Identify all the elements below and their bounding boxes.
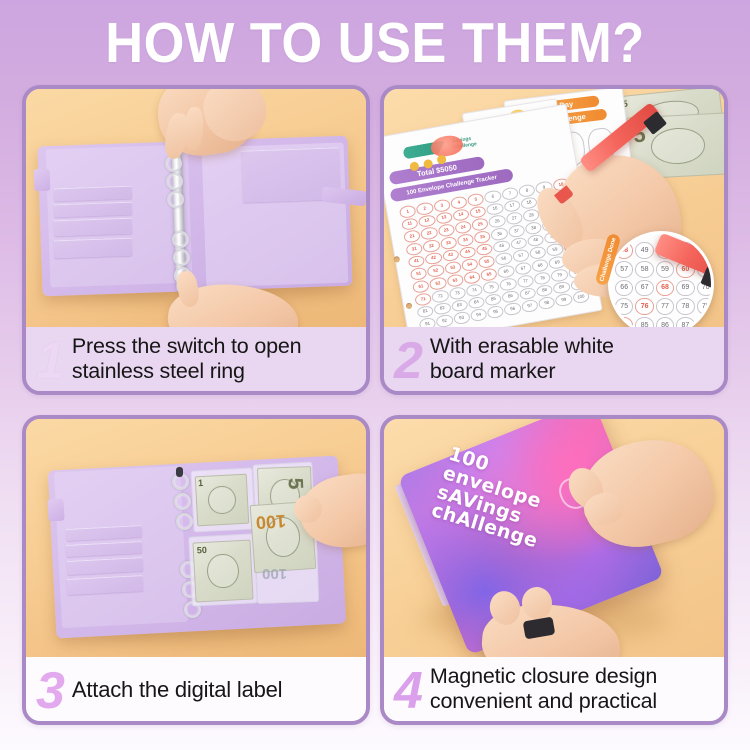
zoom-tracker-number: 66 [615, 280, 633, 297]
tracker-number[interactable]: 34 [456, 233, 474, 247]
caption-line-1: Magnetic closure design [430, 664, 657, 689]
tracker-number[interactable]: 97 [521, 299, 539, 313]
zoom-tracker-number: 58 [635, 261, 653, 278]
tracker-number[interactable]: 33 [439, 236, 457, 250]
tracker-number[interactable]: 6 [484, 189, 502, 203]
tracker-number[interactable]: 35 [473, 230, 491, 244]
tracker-number[interactable]: 56 [495, 252, 513, 266]
tracker-number[interactable]: 48 [527, 233, 545, 247]
tracker-number[interactable]: 81 [416, 304, 434, 318]
step-card-1[interactable]: 1 Press the switch to open stainless ste… [22, 85, 370, 395]
tracker-number[interactable]: 67 [514, 261, 532, 275]
elastic-tab-left [47, 499, 64, 522]
tracker-number[interactable]: 22 [420, 226, 438, 240]
tracker-number[interactable]: 88 [536, 283, 554, 297]
tracker-number[interactable]: 8 [518, 183, 536, 197]
tracker-number[interactable]: 77 [516, 274, 534, 288]
tracker-number[interactable]: 94 [470, 308, 488, 322]
tracker-number[interactable]: 17 [503, 199, 521, 213]
bill-denomination: 5 [282, 477, 306, 490]
zoom-tracker-number: 69 [676, 280, 694, 297]
tracker-number[interactable]: 54 [461, 258, 479, 272]
card-pocket [54, 202, 132, 218]
tracker-number[interactable]: 44 [459, 245, 477, 259]
tracker-number[interactable]: 84 [467, 295, 485, 309]
tracker-number[interactable]: 37 [508, 224, 526, 238]
tracker-number[interactable]: 62 [429, 276, 447, 290]
tracker-number[interactable]: 24 [454, 220, 472, 234]
zoom-tracker-number: 77 [656, 298, 674, 315]
tracker-number[interactable]: 73 [448, 286, 466, 300]
tracker-number[interactable]: 43 [442, 248, 460, 262]
tracker-number[interactable]: 57 [512, 249, 530, 263]
tracker-number[interactable]: 64 [463, 270, 481, 284]
tracker-number[interactable]: 47 [510, 236, 528, 250]
tracker-number[interactable]: 75 [482, 280, 500, 294]
step-4-caption: 4 Magnetic closure design convenient and… [384, 657, 724, 721]
step-card-3[interactable]: 1 5 50 100 100 3 [22, 415, 370, 725]
tracker-number[interactable]: 13 [435, 211, 453, 225]
caption-line-1: Attach the digital label [72, 677, 282, 702]
tracker-number[interactable]: 7 [501, 186, 519, 200]
caption-line-2: stainless steel ring [72, 359, 301, 384]
tracker-number[interactable]: 46 [493, 239, 511, 253]
tracker-number[interactable]: 45 [476, 242, 494, 256]
tracker-number[interactable]: 58 [529, 246, 547, 260]
tracker-number[interactable]: 51 [410, 267, 428, 281]
tracker-number[interactable]: 21 [403, 229, 421, 243]
zoom-tracker-number: 78 [676, 298, 694, 315]
step-2-caption: 2 With erasable white board marker [384, 327, 724, 391]
tracker-number[interactable]: 55 [478, 255, 496, 269]
tracker-number[interactable]: 11 [401, 217, 419, 231]
binder-ring [166, 173, 183, 190]
tracker-number[interactable]: 74 [465, 283, 483, 297]
tracker-number[interactable]: 5 [467, 192, 485, 206]
binder-ring [173, 249, 190, 266]
tracker-number[interactable]: 87 [519, 286, 537, 300]
tracker-number[interactable]: 12 [418, 214, 436, 228]
zoom-tracker-number: 76 [635, 298, 653, 315]
tracker-number[interactable]: 14 [452, 208, 470, 222]
tracker-number[interactable]: 32 [422, 239, 440, 253]
tracker-number[interactable]: 41 [408, 254, 426, 268]
zoom-tracker-number: 68 [656, 280, 674, 297]
tracker-number[interactable]: 2 [416, 201, 434, 215]
tracker-number[interactable]: 31 [405, 242, 423, 256]
ring-switch [176, 467, 183, 477]
tracker-number[interactable]: 23 [437, 223, 455, 237]
elastic-tab-left [34, 169, 51, 192]
tracker-number[interactable]: 76 [499, 277, 517, 291]
tracker-number[interactable]: 86 [502, 289, 520, 303]
step-number-1: 1 [36, 335, 65, 387]
bill-denomination-faded: 100 [262, 565, 287, 582]
binder-ring [167, 191, 184, 208]
zoom-tracker-number: 49 [635, 242, 653, 259]
step-number-3: 3 [36, 665, 65, 717]
step-1-photo [26, 89, 366, 329]
tracker-number[interactable]: 83 [450, 298, 468, 312]
bill-denomination: 1 [198, 478, 204, 488]
tracker-number[interactable]: 99 [555, 293, 573, 307]
step-card-2[interactable]: 5 5 Day Challenge $5 $5 $10 $5 $10 $5 [380, 85, 728, 395]
tracker-number[interactable]: 71 [414, 292, 432, 306]
step-3-photo: 1 5 50 100 100 [26, 419, 366, 659]
tracker-number[interactable]: 4 [450, 195, 468, 209]
step-4-caption-text: Magnetic closure design convenient and p… [430, 664, 657, 714]
tracker-number[interactable]: 53 [444, 261, 462, 275]
step-number-2: 2 [394, 335, 423, 387]
tracker-number[interactable]: 18 [520, 196, 538, 210]
tracker-number[interactable]: 95 [487, 305, 505, 319]
tracker-number[interactable]: 78 [533, 271, 551, 285]
tracker-number[interactable]: 82 [433, 301, 451, 315]
dollar-bill-1: 1 [195, 474, 250, 527]
tracker-number[interactable]: 79 [550, 268, 568, 282]
tracker-number[interactable]: 42 [425, 251, 443, 265]
tracker-number[interactable]: 63 [446, 273, 464, 287]
tracker-number[interactable]: 26 [488, 214, 506, 228]
tracker-number[interactable]: 98 [538, 296, 556, 310]
tracker-number[interactable]: 61 [412, 279, 430, 293]
tracker-number[interactable]: 93 [453, 311, 471, 325]
step-3-caption: 3 Attach the digital label [26, 657, 366, 721]
tracker-number[interactable]: 89 [553, 280, 571, 294]
step-3-caption-text: Attach the digital label [72, 677, 282, 702]
step-2-caption-text: With erasable white board marker [430, 334, 614, 384]
binder-ring [174, 493, 191, 510]
tracker-number[interactable]: 65 [480, 267, 498, 281]
binder-ring [172, 231, 189, 248]
dollar-bill-3: 50 [192, 540, 253, 603]
bill-oval [207, 485, 236, 515]
card-pocket [54, 238, 133, 259]
step-2-photo: 5 5 Day Challenge $5 $5 $10 $5 $10 $5 [384, 89, 724, 329]
tracker-number[interactable]: 1 [399, 204, 417, 218]
caption-line-1: With erasable white [430, 334, 614, 359]
caption-line-1: Press the switch to open [72, 334, 301, 359]
zoom-tracker-number: 75 [615, 298, 633, 315]
step-1-caption-text: Press the switch to open stainless steel… [72, 334, 301, 384]
bill-denomination: 50 [197, 545, 208, 556]
card-pocket [54, 186, 132, 202]
tracker-number[interactable]: 85 [485, 292, 503, 306]
punch-hole [406, 302, 413, 309]
zoom-tracker-number: 67 [635, 280, 653, 297]
step-card-4[interactable]: 100 envelope sAVings chAllenge 4 Magneti… [380, 415, 728, 725]
step-number-4: 4 [394, 665, 423, 717]
caption-line-2: board marker [430, 359, 614, 384]
tracker-number[interactable]: 36 [491, 227, 509, 241]
steps-grid: 1 Press the switch to open stainless ste… [22, 85, 728, 725]
tracker-number[interactable]: 96 [504, 302, 522, 316]
zoom-inset: 4849505152575859606166676869707576777879… [608, 231, 714, 329]
tracker-number[interactable]: 25 [471, 217, 489, 231]
binder-ring [176, 513, 193, 530]
bill-denomination: 100 [255, 510, 286, 533]
bill-oval [650, 127, 707, 166]
card-pocket [54, 218, 133, 237]
zoom-tracker-number: 59 [656, 261, 674, 278]
piggy-icon [429, 133, 464, 158]
tracker-number[interactable]: 72 [431, 289, 449, 303]
step-1-caption: 1 Press the switch to open stainless ste… [26, 327, 366, 391]
tracker-number[interactable]: 66 [497, 264, 515, 278]
tracker-number[interactable]: 27 [505, 211, 523, 225]
punch-hole [393, 256, 400, 263]
page-title: HOW TO USE THEM? [30, 12, 720, 74]
tracker-number[interactable]: 3 [433, 198, 451, 212]
caption-line-2: convenient and practical [430, 689, 657, 714]
tracker-number[interactable]: 16 [486, 202, 504, 216]
tracker-number[interactable]: 15 [469, 205, 487, 219]
tracker-number[interactable]: 38 [525, 221, 543, 235]
bill-oval [206, 553, 239, 589]
tracker-number[interactable]: 52 [427, 264, 445, 278]
zoom-tracker-number: 57 [615, 261, 633, 278]
tracker-number[interactable]: 68 [531, 258, 549, 272]
step-4-photo: 100 envelope sAVings chAllenge [384, 419, 724, 659]
